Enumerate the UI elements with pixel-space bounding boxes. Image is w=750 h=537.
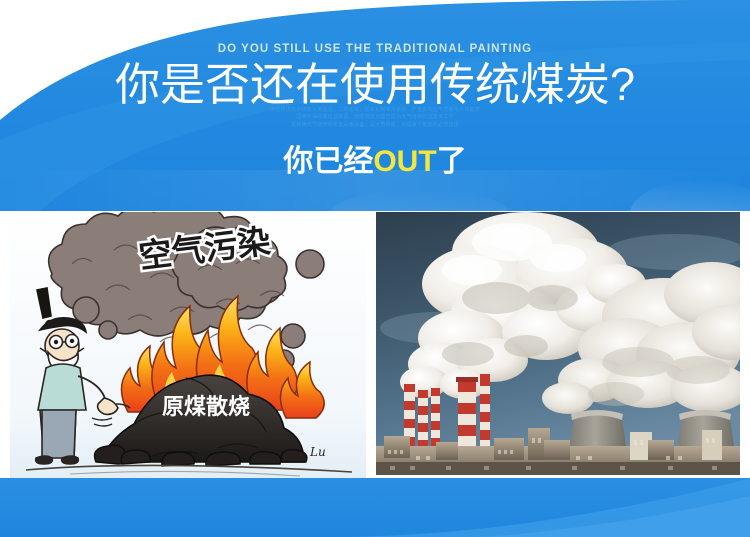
hero-eyebrow-text: DO YOU STILL USE THE TRADITIONAL PAINTIN… xyxy=(0,43,750,55)
hero-microcopy-line-2: 国家环保政策日益收紧，散煤燃烧治理已成为大气污染防治重点工作 xyxy=(0,114,750,121)
power-plant-smoke-photo xyxy=(376,212,740,475)
air-pollution-cartoon-illustration: 空气污染 xyxy=(10,212,366,478)
hero-headline: 你是否还在使用传统煤炭? xyxy=(0,60,750,110)
hero-subline-accent: OUT xyxy=(373,145,436,178)
cartoon-label-raw-coal-burning: 原煤散烧 xyxy=(162,394,250,420)
image-air-pollution-cartoon: 空气污染 xyxy=(10,212,366,478)
footer-band xyxy=(0,478,750,537)
footer-wave-background xyxy=(0,478,750,537)
hero-section: DO YOU STILL USE THE TRADITIONAL PAINTIN… xyxy=(0,0,750,211)
promo-banner-page: DO YOU STILL USE THE TRADITIONAL PAINTIN… xyxy=(0,0,750,537)
hero-subline-suffix: 了 xyxy=(437,145,467,178)
hero-subline-prefix: 你已经 xyxy=(283,145,373,178)
cartoon-signature: Lu xyxy=(309,445,326,459)
hero-subline: 你已经OUT了 xyxy=(0,142,750,182)
hero-microcopy-block: 传统燃煤锅炉排放大量烟尘、二氧化硫、氮氧化物等污染物，严重影响空气质量与人体健康… xyxy=(0,107,750,129)
hero-microcopy-line-3: 更新换代节能环保新型采暖设备，是大势所趋，也是每个家庭的必然选择 xyxy=(0,122,750,129)
image-smokestack-photo xyxy=(376,212,740,475)
